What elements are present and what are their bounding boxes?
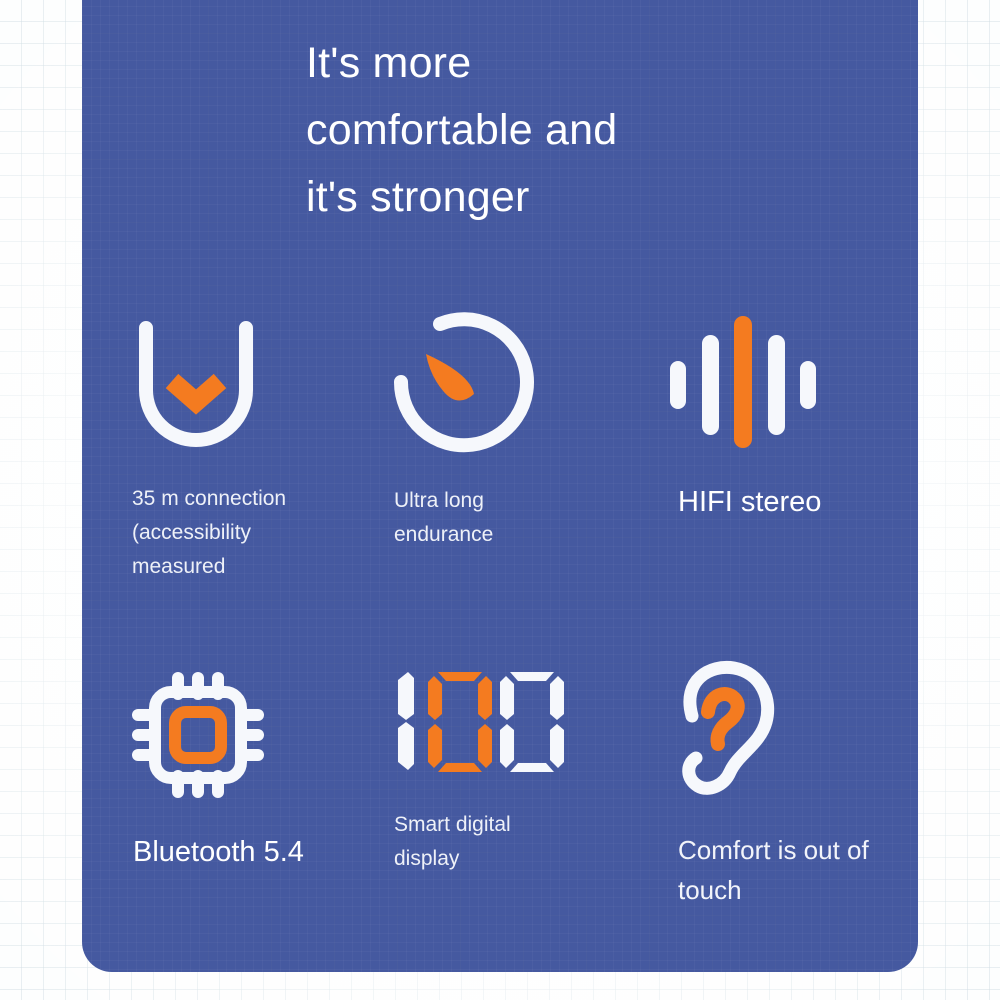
- feature-card: It's more comfortable and it's stronger …: [82, 0, 918, 972]
- icon-wrap: [392, 670, 564, 780]
- seven-segment-digit-3: [500, 672, 564, 772]
- icon-wrap: [130, 670, 304, 800]
- icon-wrap: [642, 310, 822, 452]
- chip-icon-accent-core: [175, 712, 221, 758]
- feature-display[interactable]: Smart digital display: [392, 670, 564, 876]
- sound-wave-icon: [642, 310, 822, 452]
- feature-hifi-label: HIFI stereo: [678, 484, 822, 520]
- feature-endurance-label: Ultra long endurance: [394, 484, 542, 552]
- ear-icon: [642, 660, 792, 800]
- sound-wave-icon-bar-4: [768, 335, 785, 435]
- sound-wave-icon-bar-3-accent: [734, 316, 752, 448]
- chip-icon-body: [155, 692, 241, 778]
- feature-bluetooth-label: Bluetooth 5.4: [133, 834, 304, 870]
- sound-wave-icon-bar-1: [670, 361, 686, 409]
- icon-wrap: [130, 318, 286, 458]
- feature-comfort-label: Comfort is out of touch: [678, 830, 869, 910]
- feature-connection[interactable]: 35 m connection (accessibility measured: [130, 318, 286, 584]
- feature-connection-label: 35 m connection (accessibility measured: [132, 482, 286, 584]
- feature-hifi[interactable]: HIFI stereo: [642, 310, 822, 520]
- sound-wave-icon-bar-5: [800, 361, 816, 409]
- battery-gauge-icon-accent-needle: [426, 354, 474, 401]
- wireless-range-icon-outline: [146, 328, 246, 440]
- wireless-range-icon: [130, 318, 262, 458]
- sound-wave-icon-bar-2: [702, 335, 719, 435]
- seven-segment-digit-1: [398, 672, 414, 770]
- icon-wrap: [642, 660, 869, 800]
- feature-bluetooth[interactable]: Bluetooth 5.4: [130, 670, 304, 870]
- feature-comfort[interactable]: Comfort is out of touch: [642, 660, 869, 910]
- feature-endurance[interactable]: Ultra long endurance: [392, 310, 542, 552]
- seven-segment-digit-2-accent: [428, 672, 492, 772]
- icon-wrap: [392, 310, 542, 458]
- seven-segment-100-icon: [392, 670, 564, 780]
- feature-grid: 35 m connection (accessibility measured …: [82, 0, 918, 972]
- wireless-range-icon-accent-chevron: [172, 381, 220, 402]
- feature-display-label: Smart digital display: [394, 808, 564, 876]
- chip-icon: [130, 670, 266, 800]
- ear-icon-accent-inner: [708, 694, 738, 744]
- battery-gauge-icon: [392, 310, 542, 458]
